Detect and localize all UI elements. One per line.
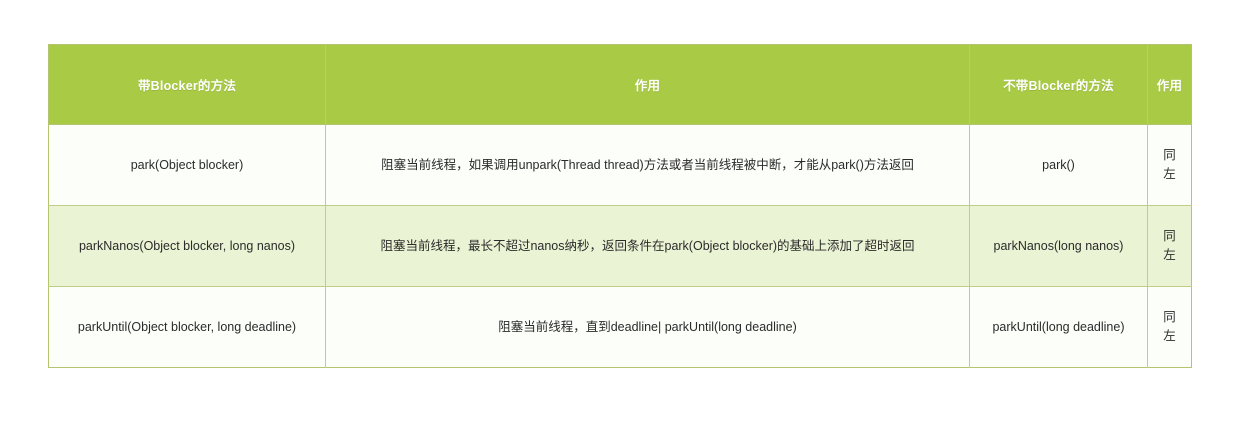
cell-non-blocker-method: parkNanos(long nanos) [970, 206, 1148, 287]
table-body: park(Object blocker) 阻塞当前线程，如果调用unpark(T… [49, 125, 1192, 368]
cell-effect: 阻塞当前线程，最长不超过nanos纳秒，返回条件在park(Object blo… [326, 206, 970, 287]
locksupport-method-table: 带Blocker的方法 作用 不带Blocker的方法 作用 park(Obje… [48, 44, 1192, 368]
header-effect-1: 作用 [326, 45, 970, 125]
table-row: park(Object blocker) 阻塞当前线程，如果调用unpark(T… [49, 125, 1192, 206]
cell-effect-2: 同左 [1148, 287, 1192, 368]
cell-blocker-method: parkNanos(Object blocker, long nanos) [49, 206, 326, 287]
header-effect-2: 作用 [1148, 45, 1192, 125]
table-header-row: 带Blocker的方法 作用 不带Blocker的方法 作用 [49, 45, 1192, 125]
page-root: 带Blocker的方法 作用 不带Blocker的方法 作用 park(Obje… [0, 0, 1240, 431]
cell-effect-2: 同左 [1148, 125, 1192, 206]
cell-non-blocker-method: park() [970, 125, 1148, 206]
header-blocker-method: 带Blocker的方法 [49, 45, 326, 125]
header-non-blocker-method: 不带Blocker的方法 [970, 45, 1148, 125]
table-row: parkUntil(Object blocker, long deadline)… [49, 287, 1192, 368]
table-row: parkNanos(Object blocker, long nanos) 阻塞… [49, 206, 1192, 287]
cell-blocker-method: parkUntil(Object blocker, long deadline) [49, 287, 326, 368]
table-container: 带Blocker的方法 作用 不带Blocker的方法 作用 park(Obje… [48, 44, 1191, 368]
cell-blocker-method: park(Object blocker) [49, 125, 326, 206]
cell-effect: 阻塞当前线程，直到deadline| parkUntil(long deadli… [326, 287, 970, 368]
cell-non-blocker-method: parkUntil(long deadline) [970, 287, 1148, 368]
cell-effect: 阻塞当前线程，如果调用unpark(Thread thread)方法或者当前线程… [326, 125, 970, 206]
table-header: 带Blocker的方法 作用 不带Blocker的方法 作用 [49, 45, 1192, 125]
cell-effect-2: 同左 [1148, 206, 1192, 287]
